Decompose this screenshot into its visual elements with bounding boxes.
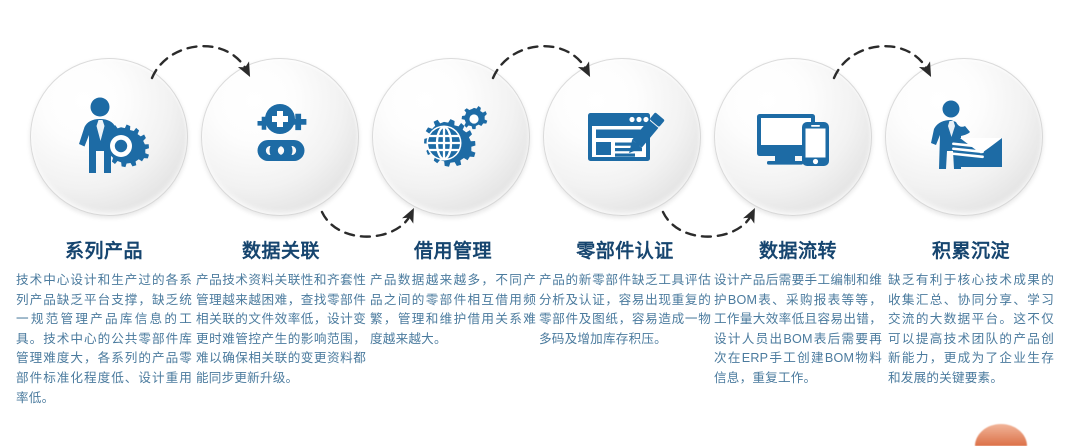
column-body-3: 产品数据越来越多，不同产品之间的零部件相互借用频繁，管理和维护借用关系难度越来越… [370,271,536,349]
businessman-gear-icon [63,91,155,183]
person-envelope-icon [918,91,1010,183]
column-title-2: 数据关联 [196,240,366,264]
column-body-1: 技术中心设计和生产过的各系列产品缺乏平台支撑，缺乏统一规范管理产品库信息的工具。… [16,271,192,408]
infographic-canvas: 系列产品 技术中心设计和生产过的各系列产品缺乏平台支撑，缺乏统一规范管理产品库信… [0,0,1065,434]
node-circle-1[interactable] [30,58,188,216]
column-2: 数据关联 产品技术资料关联性和齐套性管理越来越困难，查找零部件相关联的文件效率低… [196,240,366,389]
column-5: 数据流转 设计产品后需要手工编制和维护BOM表、采购报表等等，工作量大效率低且容… [714,240,882,389]
node-circle-4[interactable] [543,58,701,216]
column-title-1: 系列产品 [16,240,192,264]
column-4: 零部件认证 产品的新零部件缺乏工具评估分析及认证，容易出现重复的零部件及图纸，容… [539,240,711,349]
column-6: 积累沉淀 缺乏有利于核心技术成果的收集汇总、协同分享、学习交流的大数据平台。这不… [888,240,1054,389]
icon-circle-row [0,58,1065,230]
column-title-4: 零部件认证 [539,240,711,264]
column-title-6: 积累沉淀 [888,240,1054,264]
column-body-4: 产品的新零部件缺乏工具评估分析及认证，容易出现重复的零部件及图纸，容易造成一物多… [539,271,711,349]
column-title-5: 数据流转 [714,240,882,264]
node-circle-2[interactable] [201,58,359,216]
column-body-5: 设计产品后需要手工编制和维护BOM表、采购报表等等，工作量大效率低且容易出错，设… [714,271,882,389]
monitor-smartphone-icon [747,91,839,183]
node-circle-3[interactable] [372,58,530,216]
chain-link-plus-icon [234,91,326,183]
node-circle-5[interactable] [714,58,872,216]
column-title-3: 借用管理 [370,240,536,264]
column-1: 系列产品 技术中心设计和生产过的各系列产品缺乏平台支撑，缺乏统一规范管理产品库信… [16,240,192,408]
browser-pencil-icon [576,91,668,183]
node-circle-6[interactable] [885,58,1043,216]
column-body-2: 产品技术资料关联性和齐套性管理越来越困难，查找零部件相关联的文件效率低，设计变更… [196,271,366,389]
text-column-row: 系列产品 技术中心设计和生产过的各系列产品缺乏平台支撑，缺乏统一规范管理产品库信… [0,240,1065,434]
column-body-6: 缺乏有利于核心技术成果的收集汇总、协同分享、学习交流的大数据平台。这不仅可以提高… [888,271,1054,389]
column-3: 借用管理 产品数据越来越多，不同产品之间的零部件相互借用频繁，管理和维护借用关系… [370,240,536,349]
globe-gear-icon [405,91,497,183]
